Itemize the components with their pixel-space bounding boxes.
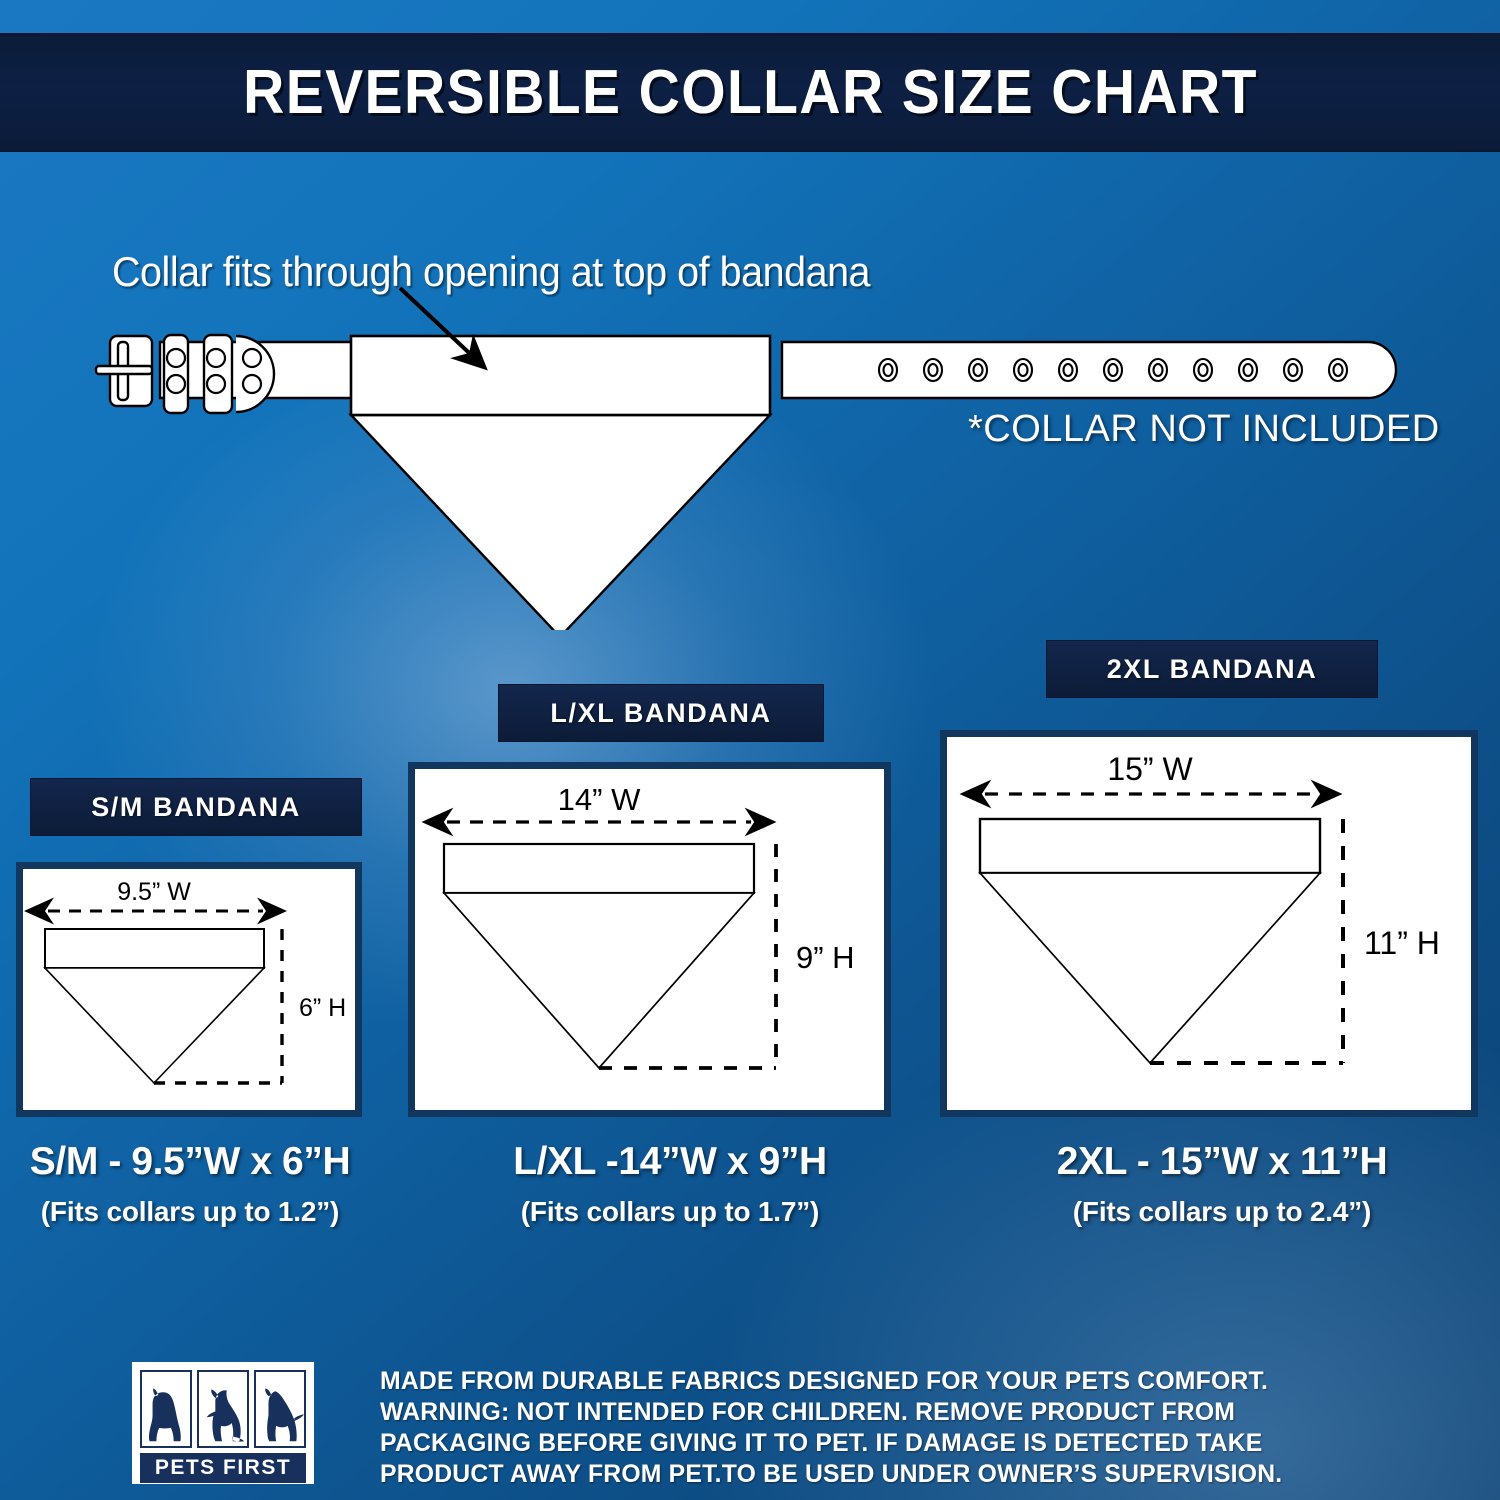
caption-lxl-main: L/XL -14”W x 9”H [470, 1140, 870, 1184]
spec-panel-2xl: 15” W 11” H [940, 730, 1478, 1117]
size-chip-lxl: L/XL BANDANA [498, 684, 824, 742]
height-label-sm: 6” H [299, 994, 346, 1022]
width-label-sm: 9.5” W [117, 878, 191, 906]
size-chart-page: REVERSIBLE COLLAR SIZE CHART Collar fits… [0, 0, 1500, 1500]
size-chip-2xl: 2XL BANDANA [1046, 640, 1378, 698]
logo-wordmark: PETS FIRST [140, 1453, 306, 1483]
height-label-lxl: 9” H [796, 940, 855, 975]
footer-line-1: MADE FROM DURABLE FABRICS DESIGNED FOR Y… [380, 1366, 1390, 1397]
spec-panel-sm: 9.5” W 6” H [16, 862, 362, 1117]
caption-lxl-sub: (Fits collars up to 1.7”) [470, 1196, 870, 1228]
dog-begging-icon [197, 1370, 249, 1448]
collar-buckle-icon [96, 336, 152, 406]
spec-diagram-lxl: 14” W 9” H [415, 769, 884, 1110]
bandana-band [980, 819, 1320, 873]
width-label-lxl: 14” W [558, 782, 641, 817]
dog-sitting-icon [140, 1370, 192, 1448]
caption-2xl: 2XL - 15”W x 11”H (Fits collars up to 2.… [1022, 1140, 1422, 1228]
bandana-band [45, 929, 264, 968]
bandana-triangle [980, 873, 1320, 1063]
bandana-triangle [351, 415, 770, 630]
collar-bandana-illustration [0, 150, 1500, 630]
caption-2xl-main: 2XL - 15”W x 11”H [1022, 1140, 1422, 1184]
dog-standing-icon [254, 1370, 306, 1448]
spec-diagram-sm: 9.5” W 6” H [23, 869, 355, 1110]
footer-line-2: WARNING: NOT INTENDED FOR CHILDREN. REMO… [380, 1397, 1390, 1428]
caption-lxl: L/XL -14”W x 9”H (Fits collars up to 1.7… [470, 1140, 870, 1228]
bandana-triangle [45, 968, 264, 1083]
caption-sm-main: S/M - 9.5”W x 6”H [10, 1140, 370, 1184]
spec-diagram-2xl: 15” W 11” H [947, 737, 1471, 1110]
collar-not-included-note: *COLLAR NOT INCLUDED [968, 408, 1440, 451]
bandana-band [444, 844, 754, 893]
spec-panel-lxl: 14” W 9” H [408, 762, 891, 1117]
caption-sm: S/M - 9.5”W x 6”H (Fits collars up to 1.… [10, 1140, 370, 1228]
collar-keeper-loop [204, 335, 232, 413]
header-bar: REVERSIBLE COLLAR SIZE CHART [0, 33, 1500, 152]
page-title: REVERSIBLE COLLAR SIZE CHART [243, 57, 1258, 128]
width-label-2xl: 15” W [1107, 751, 1193, 787]
caption-sm-sub: (Fits collars up to 1.2”) [10, 1196, 370, 1228]
footer-line-4: PRODUCT AWAY FROM PET.TO BE USED UNDER O… [380, 1459, 1390, 1490]
footer-line-3: PACKAGING BEFORE GIVING IT TO PET. IF DA… [380, 1428, 1390, 1459]
logo-dog-panels [140, 1370, 306, 1448]
size-chip-sm: S/M BANDANA [30, 778, 362, 836]
footer-disclaimer: MADE FROM DURABLE FABRICS DESIGNED FOR Y… [380, 1366, 1390, 1490]
bandana-triangle [444, 893, 754, 1068]
bandana-sleeve-opening [351, 336, 770, 415]
height-label-2xl: 11” H [1364, 925, 1440, 961]
pets-first-logo: PETS FIRST [132, 1362, 314, 1484]
caption-2xl-sub: (Fits collars up to 2.4”) [1022, 1196, 1422, 1228]
